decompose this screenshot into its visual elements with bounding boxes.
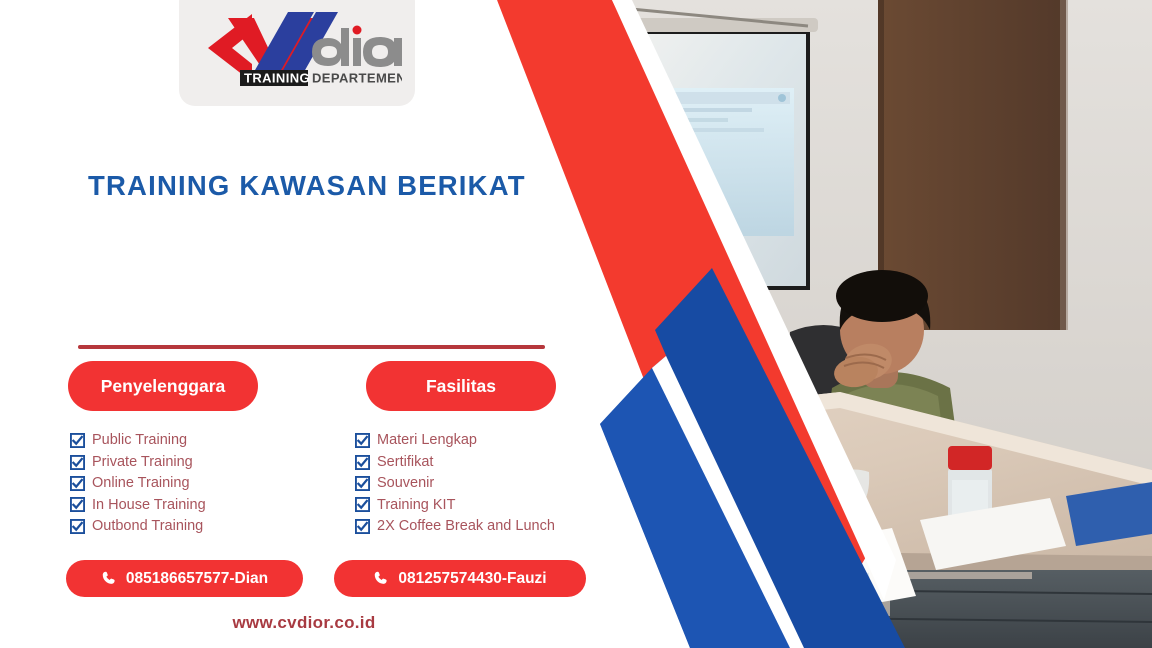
checkbox-checked-icon bbox=[355, 497, 370, 512]
list-item-label: Souvenir bbox=[377, 476, 434, 491]
pill-penyelenggara[interactable]: Penyelenggara bbox=[68, 361, 258, 411]
list-item-label: Public Training bbox=[92, 433, 187, 448]
phone-icon bbox=[373, 570, 390, 587]
list-item: Public Training bbox=[70, 430, 206, 451]
list-item-label: Materi Lengkap bbox=[377, 433, 477, 448]
contact-row: 085186657577-Dian 081257574430-Fauzi bbox=[66, 560, 606, 598]
list-item-label: Outbond Training bbox=[92, 519, 203, 534]
list-item-label: Sertifikat bbox=[377, 455, 433, 470]
svg-text:DEPARTEMENT: DEPARTEMENT bbox=[312, 71, 402, 86]
page-title: TRAINING KAWASAN BERIKAT bbox=[88, 170, 558, 202]
checkbox-checked-icon bbox=[70, 497, 85, 512]
checkbox-checked-icon bbox=[355, 433, 370, 448]
checkbox-checked-icon bbox=[355, 455, 370, 470]
checklist-fasilitas: Materi Lengkap Sertifikat Souvenir bbox=[355, 430, 555, 537]
list-item-label: In House Training bbox=[92, 498, 206, 513]
list-item: Souvenir bbox=[355, 473, 555, 494]
contact-button-dian[interactable]: 085186657577-Dian bbox=[66, 560, 303, 597]
section-pill-row: Penyelenggara Fasilitas bbox=[68, 361, 588, 413]
list-item: Sertifikat bbox=[355, 451, 555, 472]
list-item: 2X Coffee Break and Lunch bbox=[355, 516, 555, 537]
checkbox-checked-icon bbox=[70, 476, 85, 491]
list-item: Online Training bbox=[70, 473, 206, 494]
cv-dior-logo-icon: TRAINING DEPARTEMENT bbox=[192, 8, 402, 94]
list-item-label: Online Training bbox=[92, 476, 190, 491]
list-item: Materi Lengkap bbox=[355, 430, 555, 451]
list-item-label: Training KIT bbox=[377, 498, 455, 513]
checklist-penyelenggara: Public Training Private Training Online … bbox=[70, 430, 206, 537]
list-item: Private Training bbox=[70, 451, 206, 472]
checkbox-checked-icon bbox=[70, 433, 85, 448]
content-column: TRAINING DEPARTEMENT TRAINING KAWASAN BE… bbox=[0, 0, 600, 648]
svg-text:TRAINING: TRAINING bbox=[244, 71, 310, 86]
pill-fasilitas[interactable]: Fasilitas bbox=[366, 361, 556, 411]
list-item-label: 2X Coffee Break and Lunch bbox=[377, 519, 555, 534]
contact-button-fauzi[interactable]: 081257574430-Fauzi bbox=[334, 560, 586, 597]
contact-label: 081257574430-Fauzi bbox=[398, 570, 546, 588]
list-item: Training KIT bbox=[355, 494, 555, 515]
contact-label: 085186657577-Dian bbox=[126, 570, 268, 588]
brand-logo-card: TRAINING DEPARTEMENT bbox=[179, 0, 415, 106]
checkbox-checked-icon bbox=[70, 455, 85, 470]
list-item-label: Private Training bbox=[92, 455, 193, 470]
checkbox-checked-icon bbox=[355, 519, 370, 534]
flyer-canvas: TRAINING DEPARTEMENT TRAINING KAWASAN BE… bbox=[0, 0, 1152, 648]
phone-icon bbox=[101, 570, 118, 587]
list-item: In House Training bbox=[70, 494, 206, 515]
checkbox-checked-icon bbox=[70, 519, 85, 534]
checkbox-checked-icon bbox=[355, 476, 370, 491]
section-divider bbox=[78, 345, 545, 349]
website-url[interactable]: www.cvdior.co.id bbox=[0, 613, 608, 633]
list-item: Outbond Training bbox=[70, 516, 206, 537]
